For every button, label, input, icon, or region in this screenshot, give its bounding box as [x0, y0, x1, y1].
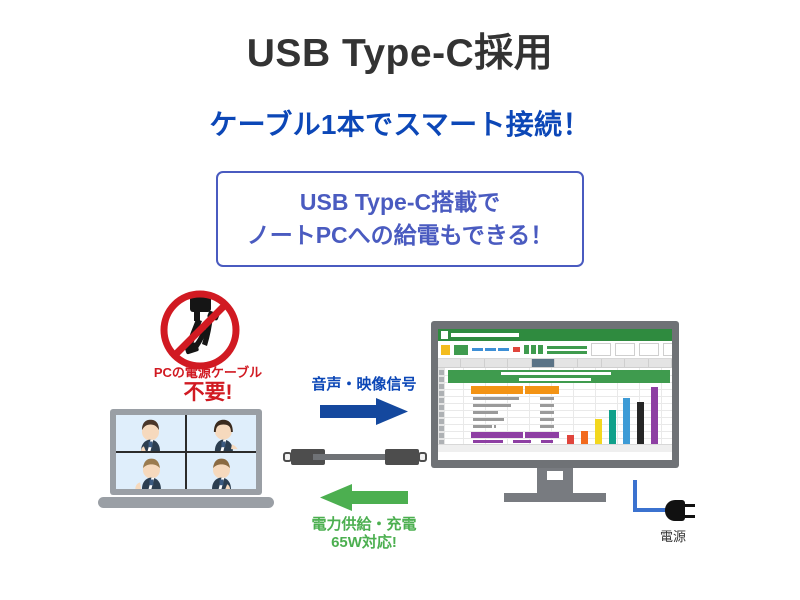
usb-c-cable	[283, 447, 427, 467]
data-cell	[473, 397, 519, 400]
data-value	[540, 411, 554, 414]
no-power-cable-badge: PCの電源ケーブル 不要!	[128, 288, 288, 406]
column-header-cell[interactable]	[625, 359, 648, 367]
prohibition-sign-icon	[158, 288, 242, 372]
column-header-row[interactable]	[438, 359, 672, 368]
sheet-subtitle-text	[519, 378, 591, 381]
chart-bar	[623, 398, 630, 450]
bar-chart	[563, 382, 667, 450]
row-header-column[interactable]	[438, 368, 445, 452]
data-header-row-2	[525, 386, 559, 394]
page-title: USB Type-C採用	[0, 33, 800, 76]
usb-c-connector-right	[385, 449, 419, 465]
power-plug-icon	[665, 500, 685, 521]
sheet-title-text	[501, 372, 611, 375]
data-value	[540, 418, 554, 421]
titlebar-text-placeholder	[451, 333, 519, 337]
arrow-right-icon	[320, 398, 408, 425]
laptop-lid	[110, 409, 262, 495]
power-plug-prong-bottom	[683, 515, 695, 518]
data-cell	[494, 425, 496, 428]
no-cable-caption-large: 不要!	[128, 381, 288, 404]
cell-box-icon-1[interactable]	[591, 343, 611, 356]
summary-row-2	[525, 432, 559, 438]
column-header-cell[interactable]	[438, 359, 461, 367]
format-bars-icon[interactable]	[547, 346, 587, 354]
spreadsheet-toolbar[interactable]	[438, 341, 672, 359]
column-header-cell[interactable]	[649, 359, 672, 367]
power-cable-horizontal	[633, 508, 669, 512]
summary-cell	[473, 440, 503, 443]
column-header-cell[interactable]	[461, 359, 484, 367]
cell-box-icon-2[interactable]	[615, 343, 635, 356]
cell-box-icon-4[interactable]	[663, 343, 672, 356]
data-header-row	[471, 386, 523, 394]
column-header-cell[interactable]	[578, 359, 601, 367]
chart-bar	[651, 387, 658, 450]
monitor-neck-notch	[547, 471, 563, 480]
callout-line-2: ノートPCへの給電もできる！	[247, 219, 554, 252]
column-header-cell-selected[interactable]	[532, 359, 555, 367]
data-value	[540, 397, 554, 400]
power-plug-prong-top	[683, 504, 695, 507]
av-signal-arrow-group: 音声・映像信号	[296, 376, 432, 425]
column-header-cell[interactable]	[508, 359, 531, 367]
summary-row	[471, 432, 523, 438]
data-cell	[473, 411, 498, 414]
av-signal-label: 音声・映像信号	[296, 376, 432, 394]
data-cell	[473, 425, 492, 428]
column-header-cell[interactable]	[485, 359, 508, 367]
video-call-grid	[116, 415, 256, 489]
monitor-screen	[438, 329, 672, 460]
data-cell	[473, 418, 504, 421]
power-supply-label-2: 65W対応!	[288, 534, 440, 552]
column-header-cell[interactable]	[555, 359, 578, 367]
video-tile-4	[187, 453, 256, 489]
power-plug-group: 電源	[625, 480, 725, 555]
monitor-foot	[504, 493, 606, 502]
table-icon[interactable]	[454, 345, 468, 355]
laptop-with-video-call	[98, 409, 274, 514]
laptop-base	[98, 497, 274, 508]
data-value	[540, 404, 554, 407]
monitor-bezel	[431, 321, 679, 468]
callout-line-1: USB Type-C搭載で	[300, 186, 500, 219]
power-supply-label-1: 電力供給・充電	[288, 516, 440, 534]
infographic-canvas: USB Type-C採用 ケーブル1本でスマート接続！ USB Type-C搭載…	[0, 0, 800, 600]
callout-box: USB Type-C搭載で ノートPCへの給電もできる！	[216, 171, 584, 267]
summary-cell	[513, 440, 531, 443]
video-tile-2	[187, 415, 256, 451]
summary-cell	[541, 440, 553, 443]
power-label: 電源	[637, 526, 709, 545]
chart-icon[interactable]	[513, 347, 520, 352]
arrow-left-icon	[320, 484, 408, 511]
align-icon[interactable]	[472, 348, 509, 351]
column-header-cell[interactable]	[602, 359, 625, 367]
usb-c-connector-right-tip	[418, 452, 427, 462]
spreadsheet-statusbar	[438, 444, 672, 452]
spreadsheet-titlebar	[438, 329, 672, 341]
video-tile-1	[116, 415, 185, 451]
spreadsheet-body[interactable]	[438, 368, 672, 452]
page-subtitle: ケーブル1本でスマート接続！	[0, 110, 800, 141]
cell-grid[interactable]	[445, 368, 672, 452]
app-icon	[441, 331, 448, 339]
chart-bar	[637, 402, 644, 450]
fill-color-icon[interactable]	[441, 345, 450, 355]
data-cell	[473, 404, 511, 407]
list-icon[interactable]	[524, 345, 543, 354]
data-value	[540, 425, 554, 428]
power-supply-arrow-group: 電力供給・充電 65W対応!	[288, 480, 440, 553]
cell-box-icon-3[interactable]	[639, 343, 659, 356]
no-cable-caption-small: PCの電源ケーブル	[128, 366, 288, 380]
video-tile-3	[116, 453, 185, 489]
